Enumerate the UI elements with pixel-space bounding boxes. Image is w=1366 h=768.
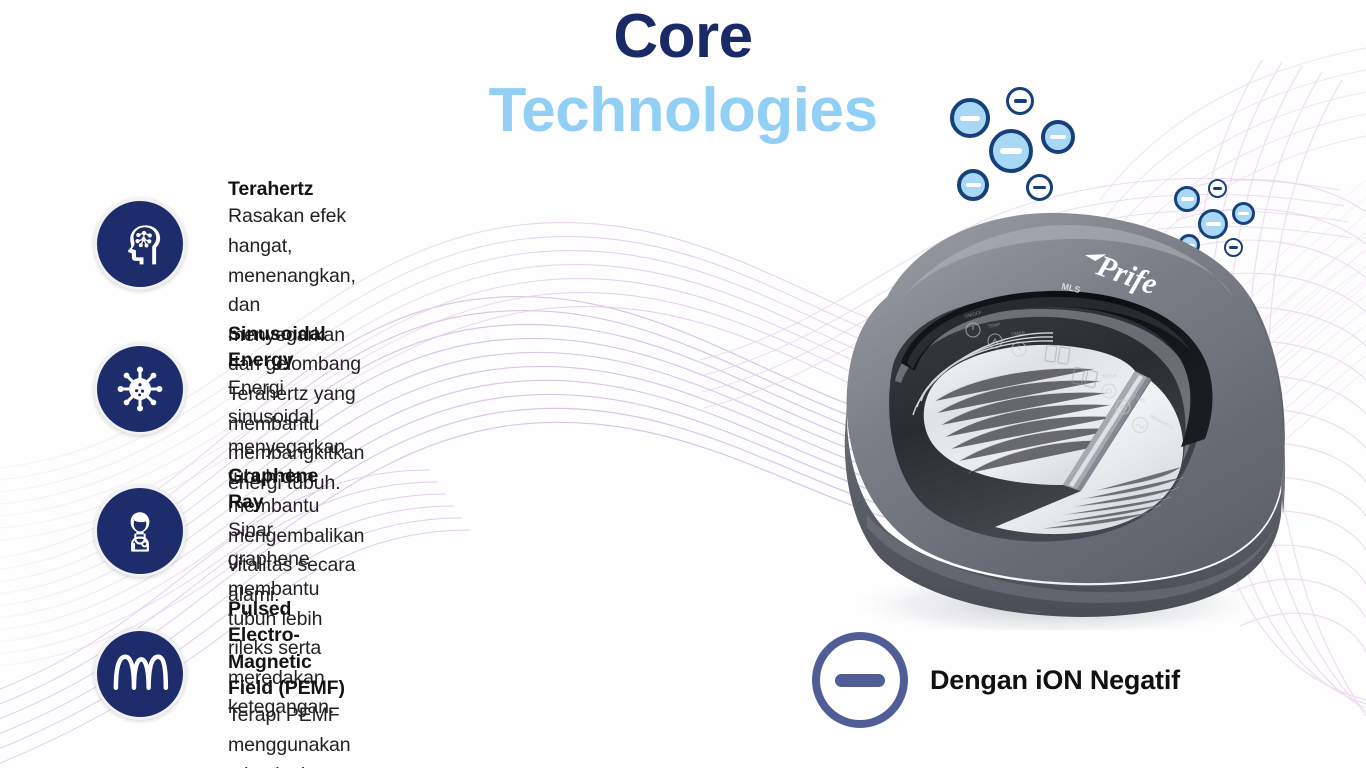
feature-text-pemf: Pulsed Electro-Magnetic Field (PEMF) Ter…: [228, 596, 351, 768]
minus-glyph: [835, 674, 885, 687]
negative-ion-bubble: [1041, 120, 1075, 154]
minus-glyph: [1000, 148, 1022, 154]
page-title: Core Technologies: [0, 4, 1366, 146]
minus-glyph: [960, 116, 980, 121]
feature-title: Graphene Ray: [228, 463, 334, 516]
negative-ion-bubble: [989, 129, 1033, 173]
negative-ion-bubble: [1006, 87, 1034, 115]
slide-canvas: Core Technologies: [0, 0, 1366, 768]
wave-icon: [94, 628, 186, 720]
feature-title: Terahertz: [228, 176, 364, 202]
feature-title: Pulsed Electro-Magnetic Field (PEMF): [228, 596, 351, 701]
negative-ion-badge: Dengan iON Negatif: [812, 632, 1180, 728]
negative-ion-label: Dengan iON Negatif: [930, 665, 1180, 696]
negative-ion-icon: [812, 632, 908, 728]
virus-cell-icon: [94, 343, 186, 435]
foot-massager-device: ON/OFF TEMP TIMER MODE: [795, 185, 1325, 630]
feature-body: Terapi PEMF menggunakan teknologi untuk …: [228, 701, 351, 768]
head-brain-icon: [94, 198, 186, 290]
svg-text:MODE: MODE: [1103, 373, 1117, 379]
title-line-technologies: Technologies: [0, 75, 1366, 146]
minus-glyph: [1050, 135, 1066, 140]
doctor-icon: [94, 485, 186, 577]
negative-ion-bubble: [950, 98, 990, 138]
minus-glyph: [1014, 99, 1027, 103]
feature-title: Sinusoidal Energy: [228, 321, 364, 374]
title-line-core: Core: [0, 4, 1366, 69]
